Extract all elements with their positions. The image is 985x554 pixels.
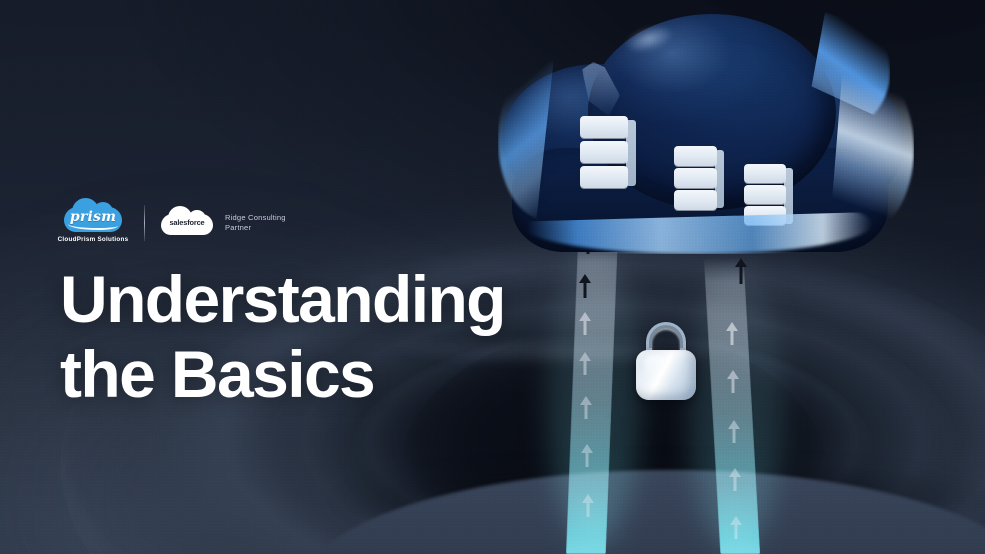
cloud-prism-icon: prism [64,203,122,233]
partner-badge-text: Ridge Consulting Partner [225,213,286,234]
logo-bar: prism CloudPrism Solutions salesforce Ri… [60,203,286,243]
partner-badge-line-1: Ridge Consulting [225,213,286,223]
page-title: Understanding the Basics [60,262,505,411]
logo-divider [144,205,145,241]
partner-badge[interactable]: salesforce Ridge Consulting Partner [161,208,286,238]
brand-cloudprism[interactable]: prism CloudPrism Solutions [60,203,126,243]
brand-name-label: CloudPrism Solutions [58,236,129,243]
salesforce-wordmark: salesforce [161,218,213,227]
partner-badge-line-2: Partner [225,223,286,233]
page-title-line-1: Understanding [60,262,505,336]
salesforce-cloud-icon: salesforce [161,208,213,238]
slide-canvas: prism CloudPrism Solutions salesforce Ri… [0,0,985,554]
page-title-line-2: the Basics [60,337,505,412]
